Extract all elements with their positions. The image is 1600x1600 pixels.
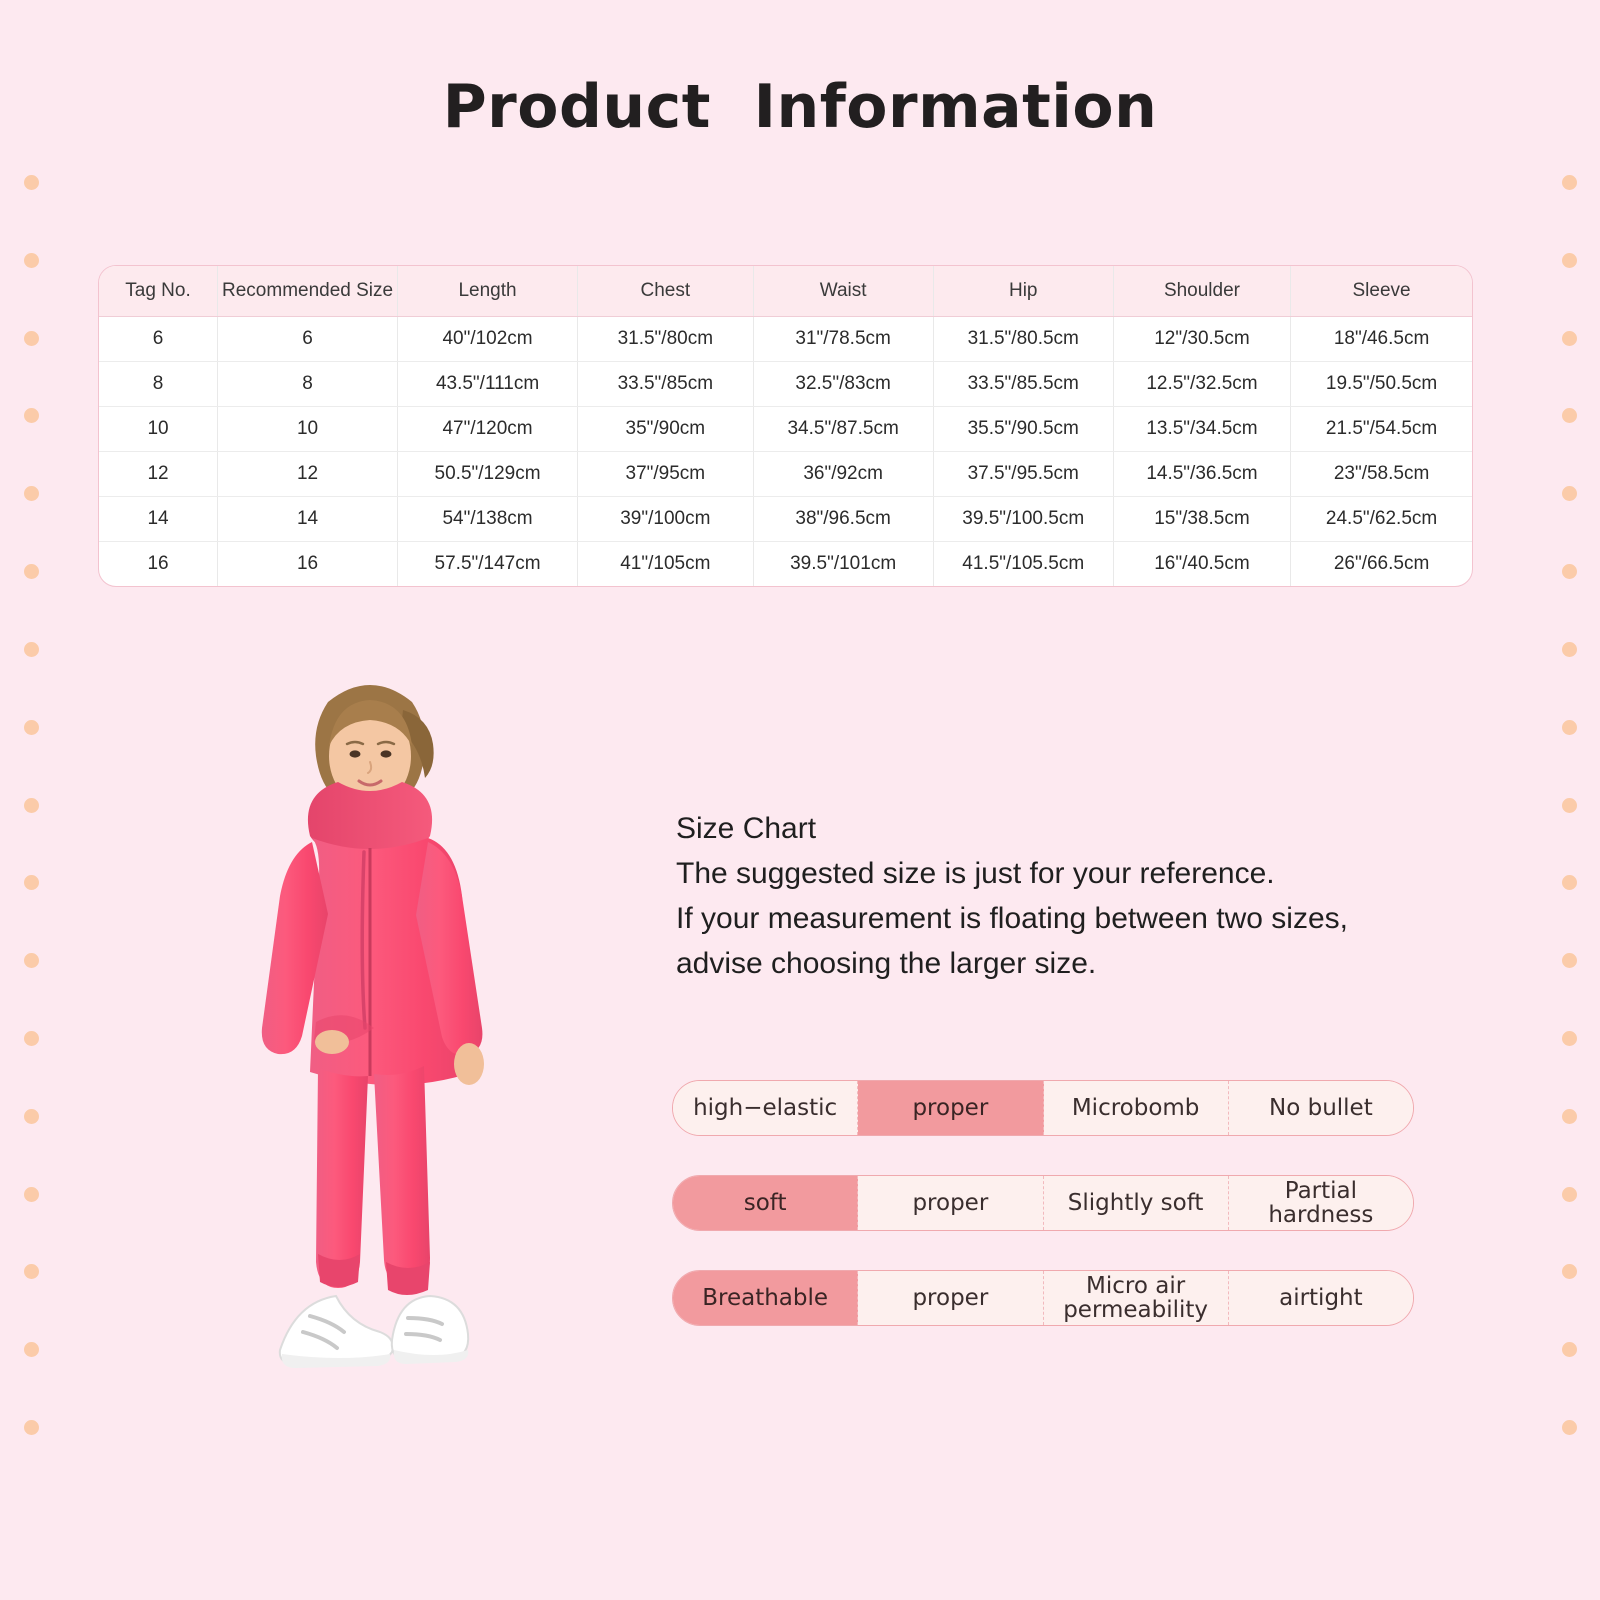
- decorative-dot: [24, 564, 39, 579]
- size-table-container: Tag No. Recommended Size Length Chest Wa…: [98, 265, 1473, 587]
- decorative-dot: [24, 953, 39, 968]
- property-segment[interactable]: proper: [858, 1081, 1043, 1135]
- decorative-dot: [1562, 1109, 1577, 1124]
- decorative-dot: [24, 1342, 39, 1357]
- decorative-dot: [1562, 408, 1577, 423]
- property-segment[interactable]: Breathable: [673, 1271, 858, 1325]
- table-cell: 40"/102cm: [398, 317, 578, 362]
- property-bars: high−elasticproperMicrobombNo bulletsoft…: [672, 1080, 1414, 1365]
- table-cell: 12: [99, 452, 218, 497]
- table-cell: 15"/38.5cm: [1113, 497, 1290, 542]
- property-bar-breathability: BreathableproperMicro airpermeabilityair…: [672, 1270, 1414, 1326]
- table-cell: 31.5"/80cm: [578, 317, 754, 362]
- property-segment[interactable]: airtight: [1229, 1271, 1413, 1325]
- decorative-dot: [1562, 253, 1577, 268]
- decorative-dot: [24, 253, 39, 268]
- table-cell: 47"/120cm: [398, 407, 578, 452]
- size-table: Tag No. Recommended Size Length Chest Wa…: [99, 266, 1472, 586]
- property-segment[interactable]: Microbomb: [1044, 1081, 1229, 1135]
- segment-label-line-2: permeability: [1063, 1298, 1208, 1322]
- decorative-dot: [24, 175, 39, 190]
- table-cell: 10: [99, 407, 218, 452]
- table-cell: 39.5"/100.5cm: [933, 497, 1113, 542]
- table-cell: 21.5"/54.5cm: [1291, 407, 1472, 452]
- table-row: 141454"/138cm39"/100cm38"/96.5cm39.5"/10…: [99, 497, 1472, 542]
- col-header-sleeve: Sleeve: [1291, 266, 1472, 317]
- decorative-dot: [1562, 175, 1577, 190]
- property-bar-elasticity: high−elasticproperMicrobombNo bullet: [672, 1080, 1414, 1136]
- table-cell: 12: [218, 452, 398, 497]
- table-cell: 38"/96.5cm: [753, 497, 933, 542]
- table-cell: 18"/46.5cm: [1291, 317, 1472, 362]
- col-header-chest: Chest: [578, 266, 754, 317]
- table-cell: 16"/40.5cm: [1113, 542, 1290, 587]
- segment-label: Partialhardness: [1268, 1179, 1373, 1227]
- col-header-hip: Hip: [933, 266, 1113, 317]
- table-cell: 50.5"/129cm: [398, 452, 578, 497]
- decorative-dot: [24, 408, 39, 423]
- decorative-dot: [1562, 1264, 1577, 1279]
- table-cell: 6: [99, 317, 218, 362]
- property-segment[interactable]: soft: [673, 1176, 858, 1230]
- table-cell: 37.5"/95.5cm: [933, 452, 1113, 497]
- decorative-dot: [24, 1031, 39, 1046]
- table-cell: 12.5"/32.5cm: [1113, 362, 1290, 407]
- table-row: 6640"/102cm31.5"/80cm31"/78.5cm31.5"/80.…: [99, 317, 1472, 362]
- decorative-dot: [1562, 564, 1577, 579]
- size-chart-heading: Size Chart: [676, 806, 1436, 851]
- decorative-dot: [24, 798, 39, 813]
- property-segment[interactable]: Slightly soft: [1044, 1176, 1229, 1230]
- table-cell: 16: [99, 542, 218, 587]
- decorative-dot: [1562, 1187, 1577, 1202]
- property-segment[interactable]: Partialhardness: [1229, 1176, 1413, 1230]
- table-cell: 43.5"/111cm: [398, 362, 578, 407]
- decorative-dot: [1562, 1031, 1577, 1046]
- property-segment[interactable]: proper: [858, 1176, 1043, 1230]
- col-header-length: Length: [398, 266, 578, 317]
- table-row: 121250.5"/129cm37"/95cm36"/92cm37.5"/95.…: [99, 452, 1472, 497]
- decorative-dot: [1562, 953, 1577, 968]
- size-chart-line-1: The suggested size is just for your refe…: [676, 851, 1436, 896]
- table-cell: 57.5"/147cm: [398, 542, 578, 587]
- decorative-dots-right: [1556, 175, 1582, 1435]
- segment-label-line-2: hardness: [1268, 1203, 1373, 1227]
- decorative-dot: [24, 1109, 39, 1124]
- table-cell: 39"/100cm: [578, 497, 754, 542]
- table-cell: 35.5"/90.5cm: [933, 407, 1113, 452]
- decorative-dot: [24, 720, 39, 735]
- table-header-row: Tag No. Recommended Size Length Chest Wa…: [99, 266, 1472, 317]
- table-cell: 31"/78.5cm: [753, 317, 933, 362]
- property-bar-softness: softproperSlightly softPartialhardness: [672, 1175, 1414, 1231]
- table-row: 101047"/120cm35"/90cm34.5"/87.5cm35.5"/9…: [99, 407, 1472, 452]
- table-cell: 6: [218, 317, 398, 362]
- table-cell: 54"/138cm: [398, 497, 578, 542]
- table-cell: 19.5"/50.5cm: [1291, 362, 1472, 407]
- decorative-dot: [1562, 875, 1577, 890]
- decorative-dot: [24, 1187, 39, 1202]
- col-header-tag-no: Tag No.: [99, 266, 218, 317]
- table-cell: 10: [218, 407, 398, 452]
- table-cell: 35"/90cm: [578, 407, 754, 452]
- property-segment[interactable]: high−elastic: [673, 1081, 858, 1135]
- decorative-dot: [1562, 1342, 1577, 1357]
- decorative-dot: [1562, 720, 1577, 735]
- table-cell: 33.5"/85cm: [578, 362, 754, 407]
- table-row: 161657.5"/147cm41"/105cm39.5"/101cm41.5"…: [99, 542, 1472, 587]
- table-cell: 8: [99, 362, 218, 407]
- decorative-dot: [24, 486, 39, 501]
- property-segment[interactable]: proper: [858, 1271, 1043, 1325]
- decorative-dot: [1562, 1420, 1577, 1435]
- size-table-head: Tag No. Recommended Size Length Chest Wa…: [99, 266, 1472, 317]
- table-cell: 13.5"/34.5cm: [1113, 407, 1290, 452]
- property-segment[interactable]: Micro airpermeability: [1044, 1271, 1229, 1325]
- table-cell: 34.5"/87.5cm: [753, 407, 933, 452]
- table-cell: 24.5"/62.5cm: [1291, 497, 1472, 542]
- size-chart-note: Size Chart The suggested size is just fo…: [676, 806, 1436, 986]
- table-cell: 14.5"/36.5cm: [1113, 452, 1290, 497]
- table-cell: 8: [218, 362, 398, 407]
- table-cell: 23"/58.5cm: [1291, 452, 1472, 497]
- col-header-recommended-size: Recommended Size: [218, 266, 398, 317]
- table-cell: 26"/66.5cm: [1291, 542, 1472, 587]
- decorative-dots-left: [18, 175, 44, 1435]
- table-cell: 12"/30.5cm: [1113, 317, 1290, 362]
- property-segment[interactable]: No bullet: [1229, 1081, 1413, 1135]
- table-cell: 36"/92cm: [753, 452, 933, 497]
- decorative-dot: [24, 1420, 39, 1435]
- decorative-dot: [1562, 642, 1577, 657]
- decorative-dot: [1562, 486, 1577, 501]
- table-cell: 14: [99, 497, 218, 542]
- decorative-dot: [1562, 331, 1577, 346]
- size-chart-line-3: advise choosing the larger size.: [676, 941, 1436, 986]
- model-photo: [160, 650, 590, 1430]
- decorative-dot: [1562, 798, 1577, 813]
- size-table-body: 6640"/102cm31.5"/80cm31"/78.5cm31.5"/80.…: [99, 317, 1472, 587]
- table-row: 8843.5"/111cm33.5"/85cm32.5"/83cm33.5"/8…: [99, 362, 1472, 407]
- decorative-dot: [24, 642, 39, 657]
- decorative-dot: [24, 331, 39, 346]
- segment-label: Micro airpermeability: [1063, 1274, 1208, 1322]
- segment-label-line-1: Micro air: [1063, 1274, 1208, 1298]
- table-cell: 37"/95cm: [578, 452, 754, 497]
- decorative-dot: [24, 875, 39, 890]
- segment-label-line-1: Partial: [1268, 1179, 1373, 1203]
- table-cell: 16: [218, 542, 398, 587]
- page-title: Product Information: [0, 72, 1600, 142]
- size-chart-line-2: If your measurement is floating between …: [676, 896, 1436, 941]
- decorative-dot: [24, 1264, 39, 1279]
- table-cell: 39.5"/101cm: [753, 542, 933, 587]
- table-cell: 14: [218, 497, 398, 542]
- table-cell: 31.5"/80.5cm: [933, 317, 1113, 362]
- table-cell: 41"/105cm: [578, 542, 754, 587]
- table-cell: 41.5"/105.5cm: [933, 542, 1113, 587]
- col-header-shoulder: Shoulder: [1113, 266, 1290, 317]
- table-cell: 33.5"/85.5cm: [933, 362, 1113, 407]
- col-header-waist: Waist: [753, 266, 933, 317]
- table-cell: 32.5"/83cm: [753, 362, 933, 407]
